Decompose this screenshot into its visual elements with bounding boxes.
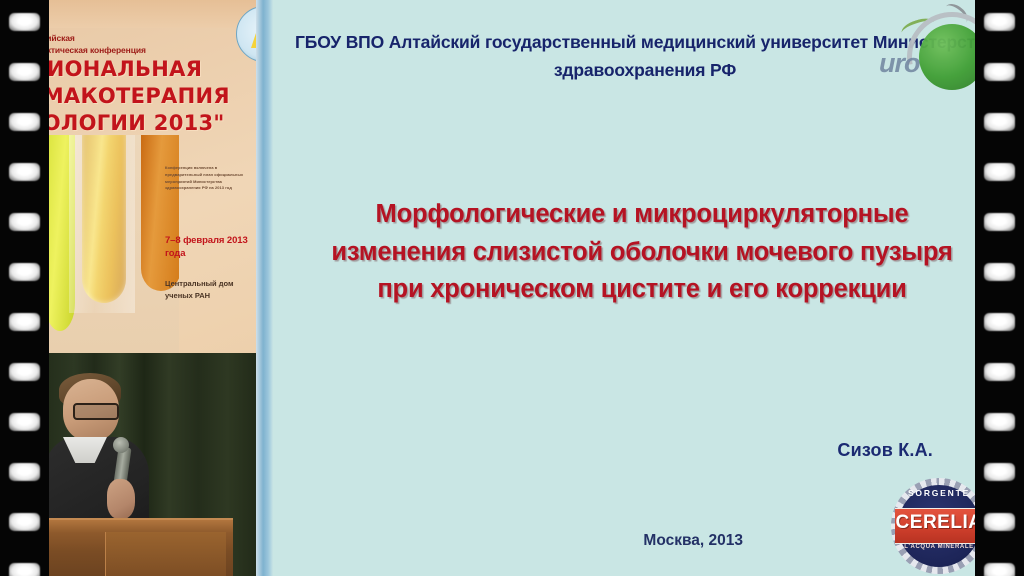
poster-subtitle-line-2: рактическая конференция bbox=[49, 45, 237, 55]
poster-subtitle-line-1: ссийская bbox=[49, 33, 237, 43]
title-line-1: Морфологические и микроциркуляторные bbox=[283, 196, 1001, 234]
film-sprocket-hole bbox=[984, 313, 1015, 331]
uro-watermark-logo: uro bbox=[873, 0, 983, 96]
film-sprocket-hole bbox=[984, 363, 1015, 381]
uro-logo-text: uro bbox=[879, 48, 920, 79]
film-sprocket-hole bbox=[9, 513, 40, 531]
filmstrip-left bbox=[0, 0, 49, 576]
film-sprocket-hole bbox=[984, 113, 1015, 131]
poster-headline-line-1: ЦИОНАЛЬНАЯ bbox=[49, 57, 256, 81]
title-line-2: изменения слизистой оболочки мочевого пу… bbox=[283, 234, 1001, 272]
film-sprocket-hole bbox=[9, 63, 40, 81]
film-sprocket-hole bbox=[9, 313, 40, 331]
cap-top-text: SORGENTE bbox=[891, 488, 987, 498]
cap-bottom-text: L'ACQUA MINERALE bbox=[891, 544, 987, 550]
film-sprocket-hole bbox=[984, 463, 1015, 481]
poster-venue: Центральный дом ученых РАН bbox=[165, 278, 256, 303]
bottle-cap-logo: SORGENTE CERELIA L'ACQUA MINERALE bbox=[891, 478, 987, 574]
speaker-hand bbox=[107, 479, 135, 519]
film-sprocket-hole bbox=[9, 263, 40, 281]
conference-poster: ссийская рактическая конференция ЦИОНАЛЬ… bbox=[49, 0, 256, 353]
title-line-3: при хроническом цистите и его коррекции bbox=[283, 271, 1001, 309]
place-and-date: Москва, 2013 bbox=[273, 532, 743, 550]
author-name: Сизов К.А. bbox=[273, 440, 933, 461]
presentation-slide: ссийская рактическая конференция ЦИОНАЛЬ… bbox=[0, 0, 1024, 576]
poster-fineprint: Конференция включена в предварительный п… bbox=[165, 165, 253, 192]
speaker-at-podium-photo bbox=[49, 353, 256, 576]
poster-top-band bbox=[49, 0, 256, 28]
film-sprocket-hole bbox=[9, 113, 40, 131]
film-sprocket-hole bbox=[9, 363, 40, 381]
film-sprocket-hole bbox=[984, 13, 1015, 31]
filmstrip-right bbox=[975, 0, 1024, 576]
film-sprocket-hole bbox=[9, 163, 40, 181]
film-sprocket-hole bbox=[984, 263, 1015, 281]
slide-body: ГБОУ ВПО Алтайский государственный медиц… bbox=[273, 0, 1024, 576]
film-sprocket-hole bbox=[9, 213, 40, 231]
podium bbox=[49, 518, 233, 576]
film-sprocket-hole bbox=[984, 213, 1015, 231]
film-sprocket-hole bbox=[9, 463, 40, 481]
film-sprocket-hole bbox=[984, 63, 1015, 81]
film-sprocket-hole bbox=[9, 13, 40, 31]
film-sprocket-hole bbox=[984, 563, 1015, 576]
film-sprocket-hole bbox=[984, 413, 1015, 431]
film-sprocket-hole bbox=[984, 163, 1015, 181]
cap-brand-text: CERELIA bbox=[895, 512, 983, 534]
slide-title: Морфологические и микроциркуляторные изм… bbox=[283, 196, 1001, 309]
speaker-glasses bbox=[73, 403, 119, 420]
test-tube-glass-highlight bbox=[69, 135, 135, 313]
microphone-head bbox=[113, 437, 129, 453]
vertical-divider bbox=[256, 0, 273, 576]
left-media-column: ссийская рактическая конференция ЦИОНАЛЬ… bbox=[49, 0, 256, 576]
film-sprocket-hole bbox=[9, 563, 40, 576]
film-sprocket-hole bbox=[9, 413, 40, 431]
poster-headline-line-2: РМАКОТЕРАПИЯ bbox=[49, 84, 256, 108]
test-tubes-photo bbox=[49, 135, 179, 353]
poster-headline-line-3: РОЛОГИИ 2013" bbox=[49, 111, 256, 135]
poster-date: 7–8 февраля 2013 года bbox=[165, 235, 256, 261]
test-tube-orange bbox=[141, 135, 179, 291]
film-sprocket-hole bbox=[984, 513, 1015, 531]
podium-front-panel bbox=[105, 532, 226, 576]
